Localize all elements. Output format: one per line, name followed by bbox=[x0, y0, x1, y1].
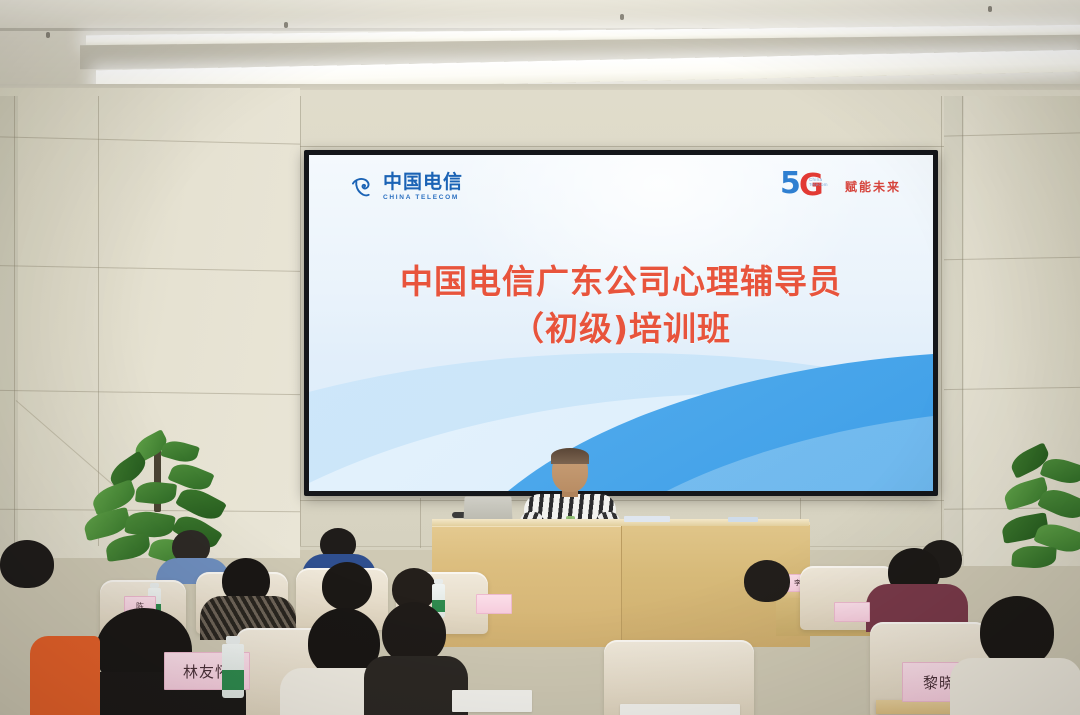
slide-title-line2: （初级)培训班 bbox=[309, 306, 933, 353]
seated-presenter bbox=[524, 450, 616, 530]
ceiling-fixture-dot bbox=[988, 6, 992, 12]
plant-leaf bbox=[1011, 544, 1056, 569]
5g-superscript: China Telecom bbox=[809, 177, 836, 187]
presenter-hair bbox=[551, 448, 589, 464]
podium-paper bbox=[624, 516, 670, 522]
5g-logo: 5 G China Telecom 赋能未来 bbox=[780, 171, 901, 201]
bottle-cap bbox=[226, 636, 240, 644]
projection-screen: 中国电信 CHINA TELECOM 5 G China Telecom 赋能未… bbox=[309, 155, 933, 491]
china-telecom-mark-icon bbox=[349, 174, 376, 201]
name-card bbox=[476, 594, 512, 614]
china-telecom-logo: 中国电信 CHINA TELECOM bbox=[349, 173, 463, 202]
wall-seam bbox=[296, 500, 948, 501]
potted-plant-left bbox=[78, 432, 248, 562]
bottle-cap bbox=[434, 579, 443, 584]
5g-tagline: 赋能未来 bbox=[845, 178, 901, 195]
bottle-label bbox=[222, 670, 244, 690]
podium-paper bbox=[728, 517, 758, 522]
plant-leaf bbox=[105, 533, 152, 562]
brand-english-name: CHINA TELECOM bbox=[383, 195, 463, 202]
plant-leaf bbox=[135, 480, 177, 506]
attendee-papers bbox=[452, 690, 532, 712]
attendee-head bbox=[382, 602, 446, 664]
attendee-papers bbox=[620, 704, 740, 715]
wall-corner-shade bbox=[944, 96, 964, 566]
wall-seam bbox=[420, 498, 421, 548]
china-telecom-wordmark: 中国电信 CHINA TELECOM bbox=[383, 173, 463, 202]
attendee-shoulders bbox=[950, 658, 1080, 715]
ceiling bbox=[0, 0, 1080, 96]
attendee-head bbox=[744, 560, 790, 602]
ceiling-fixture-dot bbox=[284, 22, 288, 28]
slide-title-line1: 中国电信广东公司心理辅导员 bbox=[400, 262, 842, 301]
potted-plant-right bbox=[1002, 448, 1080, 568]
5g-digit: 5 bbox=[780, 169, 801, 199]
wall-seam bbox=[300, 96, 301, 546]
ceiling-fixture-dot bbox=[620, 14, 624, 20]
plant-leaf bbox=[160, 437, 200, 465]
name-card bbox=[834, 602, 870, 622]
slide-title: 中国电信广东公司心理辅导员 （初级)培训班 bbox=[309, 259, 933, 353]
5g-mark-icon: 5 G China Telecom bbox=[780, 171, 836, 201]
brand-chinese-name: 中国电信 bbox=[383, 173, 463, 192]
wall-corner-shade bbox=[0, 96, 18, 556]
attendee-head bbox=[0, 540, 54, 588]
wall-seam bbox=[296, 146, 948, 147]
ceiling-fixture-dot bbox=[46, 32, 50, 38]
meeting-room-photo: 中国电信 CHINA TELECOM 5 G China Telecom 赋能未… bbox=[0, 0, 1080, 715]
attendee-head bbox=[322, 562, 372, 610]
bottle-cap bbox=[150, 583, 159, 588]
attendee-orange-shirt bbox=[30, 636, 100, 715]
wall-seam bbox=[941, 96, 942, 546]
water-bottle bbox=[222, 644, 244, 698]
